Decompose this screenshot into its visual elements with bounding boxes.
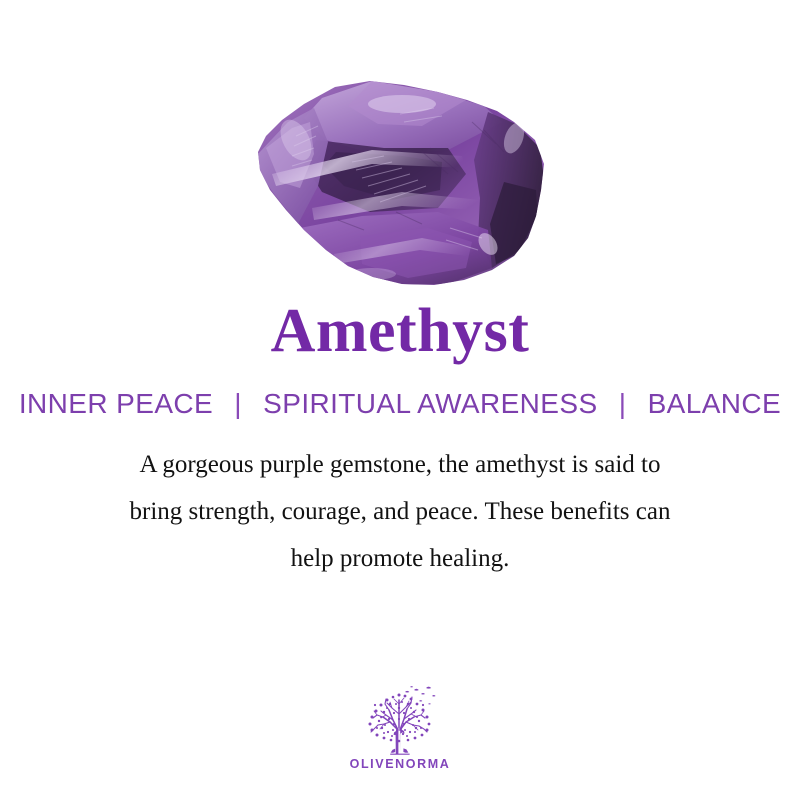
description-line-2: bring strength, courage, and peace. Thes…	[44, 488, 756, 535]
keyword-separator-2: |	[606, 388, 640, 420]
keyword-list: INNER PEACE | SPIRITUAL AWARENESS | BALA…	[0, 388, 800, 420]
keyword-separator-1: |	[221, 388, 255, 420]
amethyst-crystal-illustration	[252, 78, 552, 293]
keyword-balance: BALANCE	[648, 388, 782, 419]
tree-with-birds-icon	[357, 684, 443, 756]
hero-section	[0, 0, 800, 300]
keyword-inner-peace: INNER PEACE	[19, 388, 213, 419]
amethyst-info-card: Amethyst INNER PEACE | SPIRITUAL AWARENE…	[0, 0, 800, 800]
brand-logo: OLIVENORMA	[0, 684, 800, 771]
page-title: Amethyst	[0, 300, 800, 362]
amethyst-crystal-photo	[252, 78, 552, 293]
brand-name: OLIVENORMA	[350, 757, 451, 771]
description-line-3: help promote healing.	[44, 535, 756, 582]
keyword-spiritual-awareness: SPIRITUAL AWARENESS	[263, 388, 597, 419]
description-line-1: A gorgeous purple gemstone, the amethyst…	[44, 441, 756, 488]
description-text: A gorgeous purple gemstone, the amethyst…	[44, 441, 756, 582]
